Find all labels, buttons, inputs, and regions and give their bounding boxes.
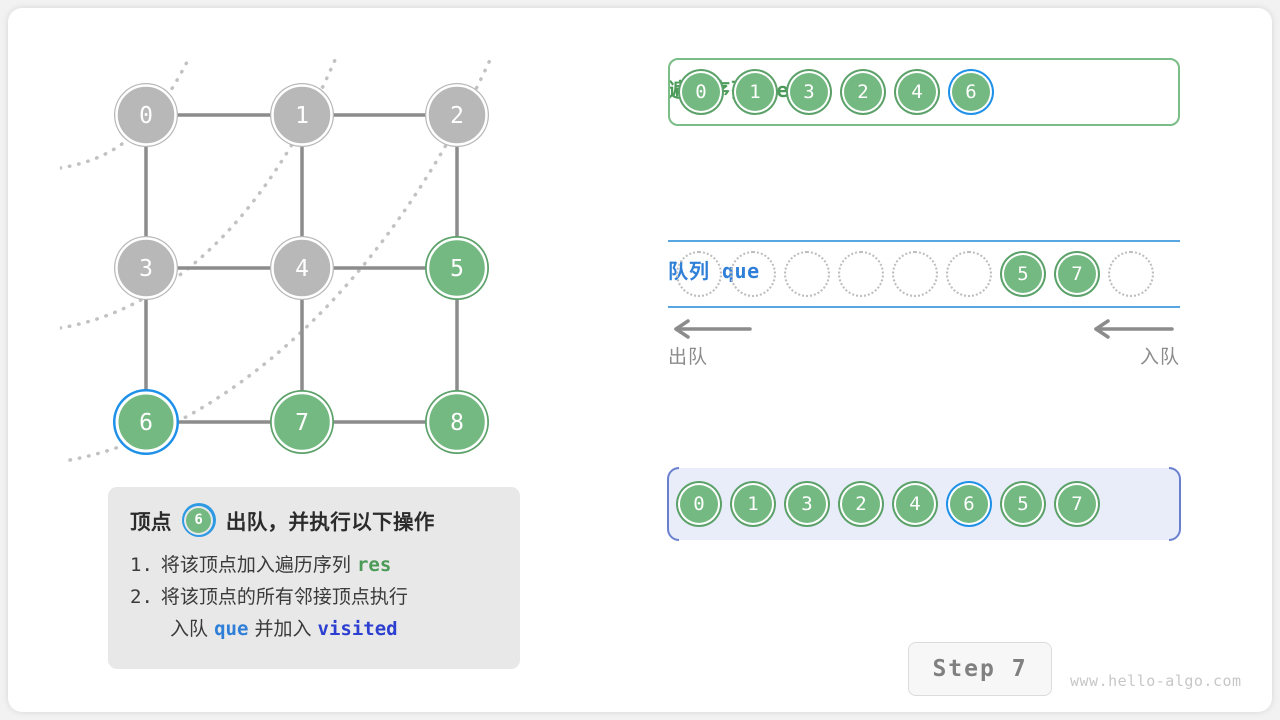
queue-slot-filled[interactable]: 5 (1000, 251, 1046, 297)
caption-step-2-cont: 入队 que 并加入 visited (130, 613, 500, 645)
graph-node-1-label: 1 (295, 103, 309, 129)
graph-panel: 0 1 2 3 4 5 6 (0, 0, 620, 720)
visited-cell[interactable]: 4 (892, 481, 938, 527)
graph-node-4[interactable]: 4 (270, 236, 334, 300)
cell-value: 6 (950, 485, 988, 523)
visited-hashset: 0 1 3 2 4 6 5 7 (668, 468, 1180, 540)
visited-cell[interactable]: 3 (784, 481, 830, 527)
visited-cell[interactable]: 5 (1000, 481, 1046, 527)
enqueue-label: 入队 (1140, 342, 1180, 372)
visited-cell[interactable]: 0 (676, 481, 722, 527)
cell-value (680, 255, 718, 293)
cell-value: 5 (1004, 255, 1042, 293)
res-cell-highlighted[interactable]: 6 (948, 69, 994, 115)
step-1-code-res: res (357, 554, 391, 576)
caption-vertex-badge: 6 (182, 503, 216, 537)
queue-slot-empty[interactable] (946, 251, 992, 297)
cell-value: 5 (1004, 485, 1042, 523)
cell-value (842, 255, 880, 293)
cell-value (896, 255, 934, 293)
res-cell[interactable]: 0 (678, 69, 724, 115)
step-2-text-a: 将该顶点的所有邻接顶点执行 (161, 581, 408, 613)
res-cell[interactable]: 2 (840, 69, 886, 115)
step-1-text-a: 将该顶点加入遍历序列 (161, 554, 351, 576)
cell-value: 4 (898, 73, 936, 111)
cell-value (734, 255, 772, 293)
queue-slot-filled[interactable]: 7 (1054, 251, 1100, 297)
res-cell[interactable]: 1 (732, 69, 778, 115)
cell-value: 2 (842, 485, 880, 523)
cell-value: 0 (682, 73, 720, 111)
caption-suffix: 出队，并执行以下操作 (226, 505, 435, 535)
dequeue-label: 出队 (668, 342, 708, 372)
step-2-text-line2: 入队 que 并加入 visited (170, 613, 398, 645)
res-array: 0 1 3 2 4 6 (668, 58, 1180, 126)
graph-node-7-label: 7 (295, 410, 309, 436)
res-cell[interactable]: 3 (786, 69, 832, 115)
graph-node-1[interactable]: 1 (270, 83, 334, 147)
visited-cell[interactable]: 2 (838, 481, 884, 527)
graph-node-2[interactable]: 2 (425, 83, 489, 147)
cell-value: 2 (844, 73, 882, 111)
graph-node-7[interactable]: 7 (270, 390, 334, 454)
graph-node-5-label: 5 (450, 256, 464, 282)
cell-value (788, 255, 826, 293)
graph-node-8-label: 8 (450, 410, 464, 436)
caption-box: 顶点 6 出队，并执行以下操作 1. 将该顶点加入遍历序列 res 2. 将该顶… (108, 487, 520, 669)
step-2-code-visited: visited (318, 618, 398, 640)
caption-steps: 1. 将该顶点加入遍历序列 res 2. 将该顶点的所有邻接顶点执行 入队 qu… (130, 549, 500, 645)
graph-node-5[interactable]: 5 (425, 236, 489, 300)
graph-node-3-label: 3 (139, 256, 153, 282)
cell-value (950, 255, 988, 293)
cell-value: 6 (952, 73, 990, 111)
visited-cell[interactable]: 1 (730, 481, 776, 527)
graph-diagram: 0 1 2 3 4 5 6 (60, 40, 560, 480)
queue-direction-arrows (668, 318, 1180, 340)
queue-slot-empty[interactable] (676, 251, 722, 297)
caption-headline: 顶点 6 出队，并执行以下操作 (130, 503, 500, 537)
step-2-number: 2. (130, 581, 153, 613)
badge-value: 6 (186, 508, 211, 533)
cell-value: 0 (680, 485, 718, 523)
queue-slot-empty[interactable] (784, 251, 830, 297)
page-background: 0 1 2 3 4 5 6 (0, 0, 1280, 720)
step-badge: Step 7 (908, 642, 1052, 696)
graph-node-4-label: 4 (295, 256, 309, 282)
graph-node-8[interactable]: 8 (425, 390, 489, 454)
visited-cell-highlighted[interactable]: 6 (946, 481, 992, 527)
cell-value: 4 (896, 485, 934, 523)
step-2-text-c: 并加入 (254, 618, 311, 640)
queue-slot-empty[interactable] (892, 251, 938, 297)
cell-value: 3 (790, 73, 828, 111)
graph-node-2-label: 2 (450, 103, 464, 129)
cell-value: 7 (1058, 485, 1096, 523)
queue-array: 5 7 (668, 240, 1180, 308)
graph-node-6-label: 6 (139, 410, 153, 436)
right-panel: 遍历序列res 0 1 3 2 4 6 队列que 5 7 出队 入队 (620, 0, 1280, 720)
caption-step-2: 2. 将该顶点的所有邻接顶点执行 (130, 581, 500, 613)
watermark: www.hello-algo.com (1070, 672, 1242, 690)
cell-value: 1 (736, 73, 774, 111)
step-2-code-que: que (214, 618, 248, 640)
cell-value: 3 (788, 485, 826, 523)
graph-node-6[interactable]: 6 (113, 389, 179, 455)
step-1-number: 1. (130, 549, 153, 581)
res-cell[interactable]: 4 (894, 69, 940, 115)
cell-value (1112, 255, 1150, 293)
step-1-text: 将该顶点加入遍历序列 res (161, 549, 391, 581)
graph-node-3[interactable]: 3 (114, 236, 178, 300)
queue-slot-empty[interactable] (838, 251, 884, 297)
visited-cell[interactable]: 7 (1054, 481, 1100, 527)
cell-value: 1 (734, 485, 772, 523)
step-2-text-b: 入队 (170, 618, 208, 640)
cell-value: 7 (1058, 255, 1096, 293)
queue-slot-empty[interactable] (730, 251, 776, 297)
queue-slot-empty[interactable] (1108, 251, 1154, 297)
queue-direction-labels: 出队 入队 (668, 342, 1180, 372)
caption-step-1: 1. 将该顶点加入遍历序列 res (130, 549, 500, 581)
graph-node-0[interactable]: 0 (114, 83, 178, 147)
graph-node-0-label: 0 (139, 103, 153, 129)
caption-prefix: 顶点 (130, 505, 172, 535)
